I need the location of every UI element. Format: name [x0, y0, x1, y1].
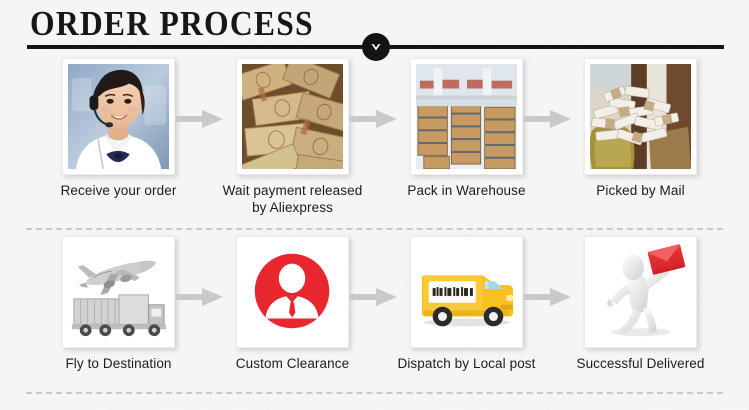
step-image-card — [236, 58, 349, 175]
row-divider — [26, 228, 723, 230]
process-step-picked-by-mail: Picked by Mail — [570, 58, 710, 200]
step-image-card — [410, 58, 523, 175]
bottom-divider — [26, 392, 723, 394]
page-title: ORDER PROCESS — [30, 5, 314, 43]
arrow-right-icon — [350, 108, 398, 130]
arrow-right-icon — [350, 286, 398, 308]
step-label: Successful Delivered — [558, 356, 723, 373]
process-step-custom-clearance: Custom Clearance — [222, 236, 362, 373]
arrow-right-icon — [524, 108, 572, 130]
airplane-and-truck-photo — [68, 242, 169, 342]
courier-with-envelope-icon — [590, 242, 691, 342]
customer-service-agent-photo — [68, 64, 169, 169]
arrow-right-icon — [176, 286, 224, 308]
step-label: Dispatch by Local post — [384, 356, 549, 373]
customs-officer-icon — [242, 242, 343, 342]
stacks-of-money-photo — [242, 64, 343, 169]
warehouse-boxes-photo — [416, 64, 517, 169]
step-label: Fly to Destination — [36, 356, 201, 373]
process-step-successful-delivered: Successful Delivered — [570, 236, 710, 373]
step-label: Pack in Warehouse — [384, 183, 549, 200]
step-image-card — [584, 236, 697, 348]
step-image-card — [584, 58, 697, 175]
process-step-wait-payment-released: Wait payment released by Aliexpress — [222, 58, 362, 216]
arrow-right-icon — [524, 286, 572, 308]
process-step-fly-to-destination: Fly to Destination — [48, 236, 188, 373]
process-row-1: Receive your order — [0, 58, 749, 228]
step-label: Picked by Mail — [558, 183, 723, 200]
step-label: Custom Clearance — [210, 356, 375, 373]
chevron-down-badge-icon — [362, 33, 390, 61]
process-step-pack-in-warehouse: Pack in Warehouse — [396, 58, 536, 200]
step-image-card — [62, 236, 175, 348]
banner-header: ORDER PROCESS — [0, 0, 749, 58]
order-process-banner: ORDER PROCESS — [0, 0, 749, 410]
process-row-2: Fly to Destination Custom Clearance — [0, 236, 749, 392]
step-image-card — [410, 236, 523, 348]
step-image-card — [236, 236, 349, 348]
step-image-card — [62, 58, 175, 175]
process-step-receive-your-order: Receive your order — [48, 58, 188, 200]
process-step-dispatch-by-local-post: Dispatch by Local post — [396, 236, 536, 373]
step-label: Wait payment released by Aliexpress — [210, 183, 375, 216]
step-label: Receive your order — [36, 183, 201, 200]
yellow-delivery-van-icon — [416, 242, 517, 342]
mail-sack-parcels-photo — [590, 64, 691, 169]
arrow-right-icon — [176, 108, 224, 130]
